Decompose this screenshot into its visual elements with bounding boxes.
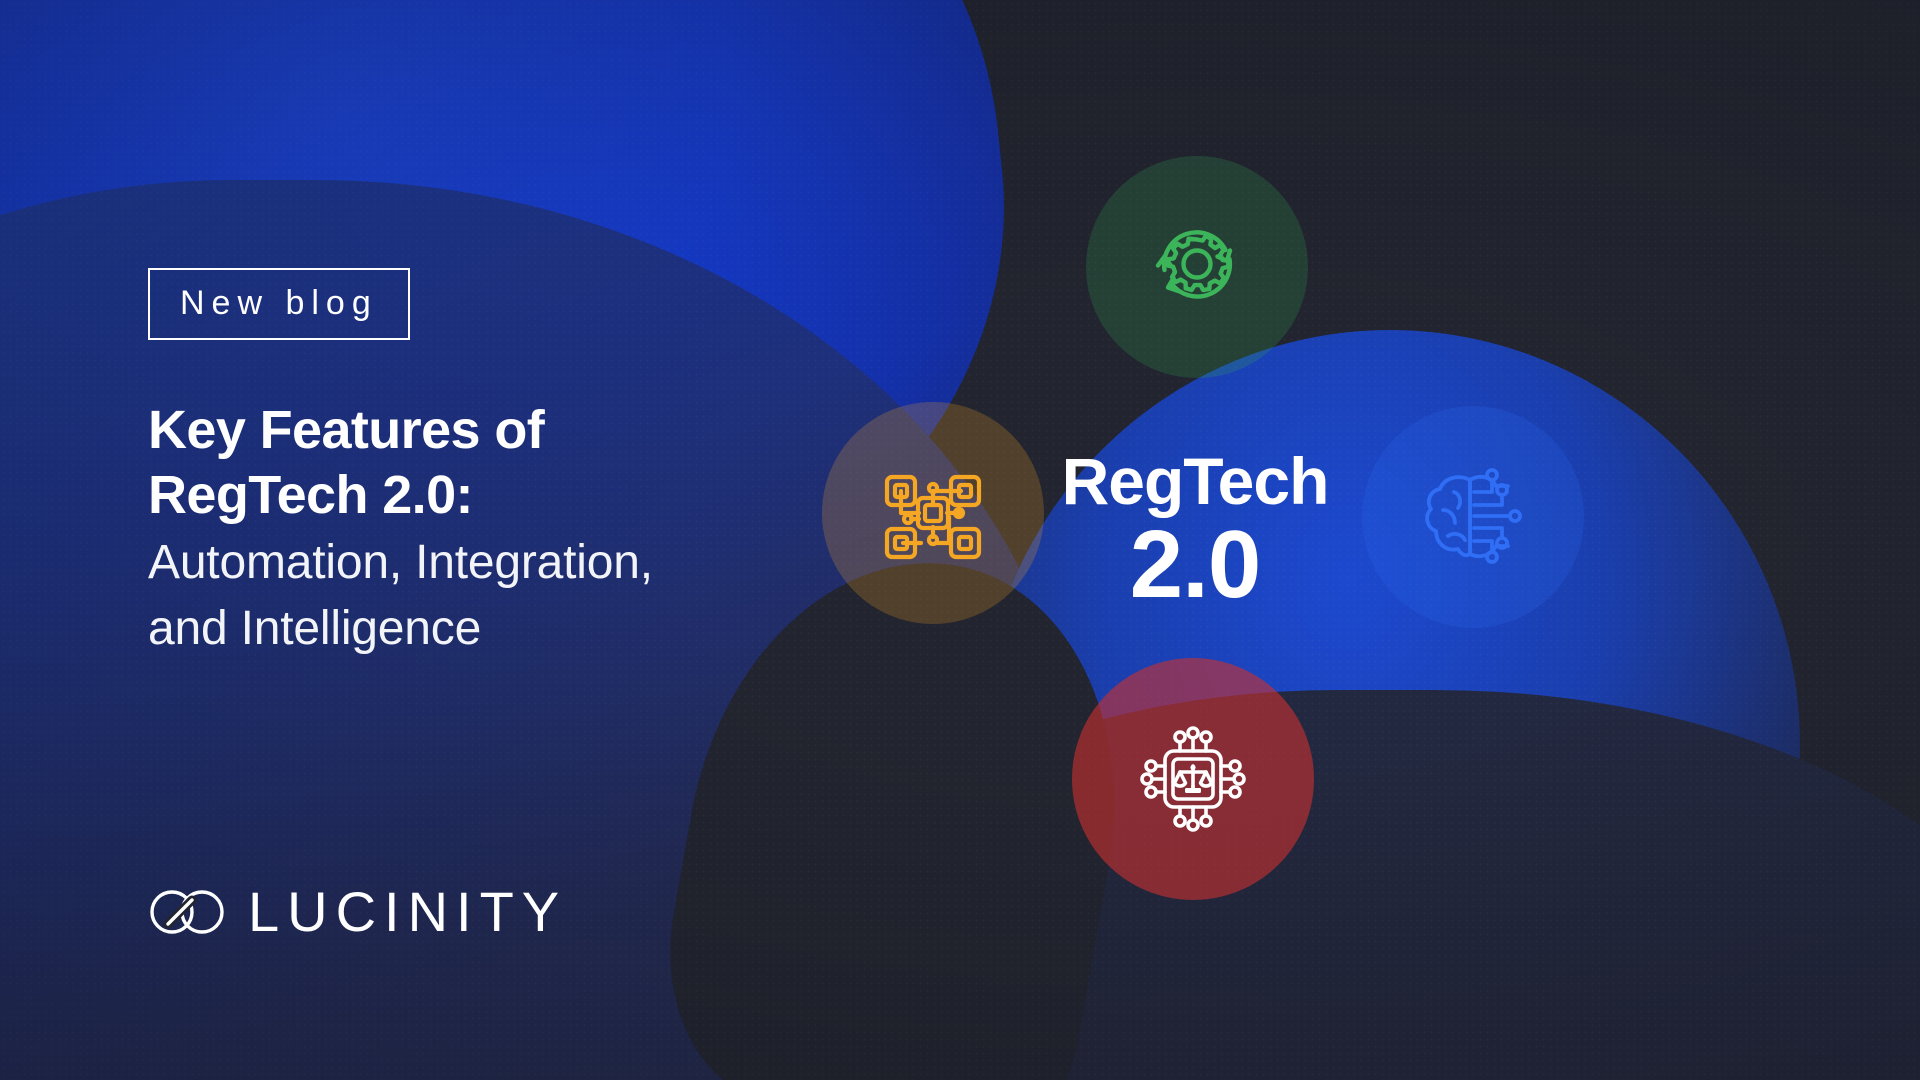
integration-icon-bubble bbox=[822, 402, 1044, 624]
page-title: Key Features of RegTech 2.0: Automation,… bbox=[148, 398, 888, 660]
brain-circuit-icon bbox=[1410, 458, 1536, 576]
compliance-icon-bubble bbox=[1072, 658, 1314, 900]
automation-icon-bubble bbox=[1086, 156, 1308, 378]
lucinity-logo: LUCINITY bbox=[148, 884, 567, 940]
infinity-links-icon bbox=[148, 888, 226, 936]
regtech-label: RegTech 2.0 bbox=[1030, 448, 1360, 614]
regtech-label-line-2: 2.0 bbox=[1030, 516, 1360, 614]
intelligence-icon-bubble bbox=[1362, 406, 1584, 628]
headline-line-1: Key Features of bbox=[148, 398, 888, 463]
regtech-label-line-1: RegTech bbox=[1030, 448, 1360, 514]
icon-cluster: RegTech 2.0 bbox=[980, 110, 1780, 930]
network-nodes-icon bbox=[871, 451, 995, 575]
headline-line-2: RegTech 2.0: bbox=[148, 463, 888, 528]
promo-banner: New blog Key Features of RegTech 2.0: Au… bbox=[0, 0, 1920, 1080]
lucinity-wordmark: LUCINITY bbox=[248, 884, 567, 940]
headline-line-4: and Intelligence bbox=[148, 598, 888, 660]
gear-refresh-icon bbox=[1137, 207, 1257, 327]
new-blog-badge-label: New blog bbox=[180, 284, 378, 322]
chip-scales-icon bbox=[1128, 714, 1258, 844]
headline-line-3: Automation, Integration, bbox=[148, 532, 888, 594]
new-blog-badge: New blog bbox=[148, 268, 410, 340]
